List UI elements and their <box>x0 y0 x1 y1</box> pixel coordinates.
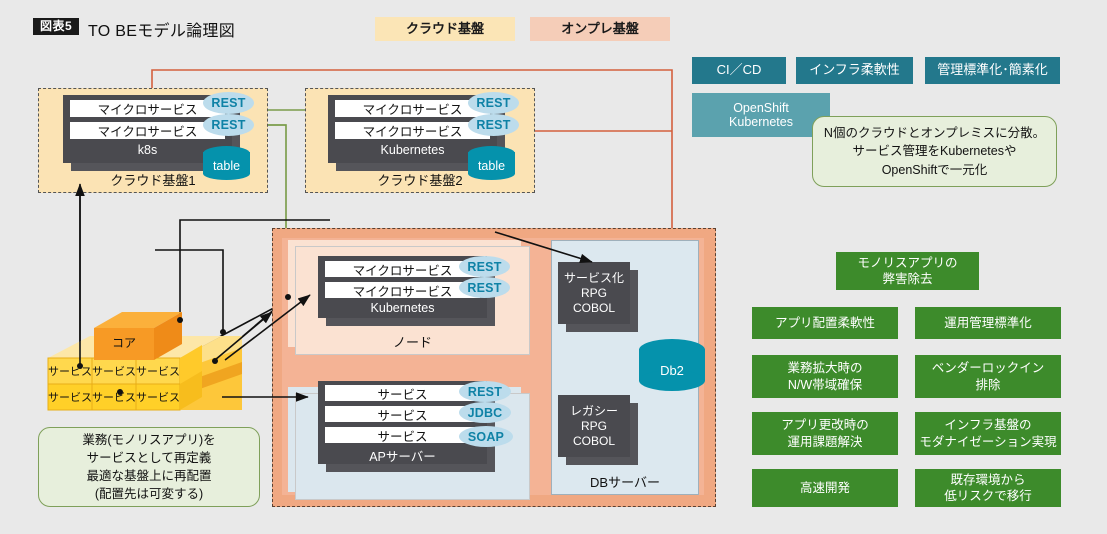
tag-openshift-line1: OpenShift <box>729 101 793 115</box>
ap-service-slot-1: サービス <box>325 385 480 401</box>
legend-onprem-platform: オンプレ基盤 <box>530 17 670 41</box>
benefit-8-line2: 低リスクで移行 <box>944 488 1032 504</box>
cloud2-service-slot-1: マイクロサービス <box>335 100 490 117</box>
callout-redefine-services: 業務(モノリスアプリ)を サービスとして再定義 最適な基盤上に再配置 (配置先は… <box>38 427 260 507</box>
benefit-4-line1: ベンダーロックイン <box>932 360 1045 376</box>
callout-left-line3: 最適な基盤上に再配置 <box>82 467 215 485</box>
callout-left-line4: (配置先は可変する) <box>82 485 215 503</box>
cloud1-table-db: table <box>203 146 250 180</box>
db-server-label: DBサーバー <box>552 472 698 491</box>
cube-service-label-r2c2: サービス <box>92 389 136 405</box>
node-service-slot-1: マイクロサービス <box>325 261 480 277</box>
node-rest-bubble-2: REST <box>459 277 510 298</box>
tag-openshift-kubernetes: OpenShift Kubernetes <box>692 93 830 137</box>
benefit-3-line2: N/W帯域確保 <box>787 377 862 393</box>
cloud2-table-db: table <box>468 146 515 180</box>
ap-jdbc-bubble: JDBC <box>459 402 511 423</box>
benefit-7-line1: 高速開発 <box>800 480 850 496</box>
modern-line1: サービス化 <box>564 271 624 286</box>
benefit-2-line1: 運用管理標準化 <box>944 315 1032 331</box>
benefit-6-line2: モダナイゼーション実現 <box>919 434 1056 450</box>
callout-left-line2: サービスとして再定義 <box>82 449 215 467</box>
monolith-service-cube: コア サービス サービス サービス サービス サービス サービス <box>30 300 245 420</box>
modern-line2: RPG <box>564 286 624 301</box>
db2-cylinder: Db2 <box>639 339 705 391</box>
callout-right-line2: サービス管理をKubernetesや <box>824 142 1045 160</box>
benefit-box-0: モノリスアプリの 弊害除去 <box>836 252 979 290</box>
cube-service-label-r1c3: サービス <box>136 363 180 379</box>
cloud1-rest-bubble-2: REST <box>203 114 254 136</box>
benefit-0-line1: モノリスアプリの <box>857 255 957 271</box>
ap-soap-bubble: SOAP <box>459 426 513 447</box>
benefit-box-3: 業務拡大時の N/W帯域確保 <box>752 355 898 398</box>
cloud2-service-slot-2: マイクロサービス <box>335 122 490 139</box>
db2-label: Db2 <box>639 363 705 378</box>
ap-service-slot-2: サービス <box>325 406 480 422</box>
cloud1-db-label: table <box>203 159 250 173</box>
benefit-1-line1: アプリ配置柔軟性 <box>775 315 875 331</box>
cloud1-service-slot-2: マイクロサービス <box>70 122 225 139</box>
callout-right-line3: OpenShiftで一元化 <box>824 161 1045 179</box>
benefit-8-line1: 既存環境から <box>944 472 1032 488</box>
modern-box-body: サービス化 RPG COBOL <box>558 262 630 324</box>
tag-openshift-line2: Kubernetes <box>729 115 793 129</box>
legacy-rpg-cobol-box: レガシー RPG COBOL <box>558 395 630 457</box>
tag-management-standardization: 管理標準化･簡素化 <box>925 57 1060 84</box>
ap-rest-bubble: REST <box>459 381 511 402</box>
benefit-box-7: 高速開発 <box>752 469 898 507</box>
benefit-3-line1: 業務拡大時の <box>787 360 862 376</box>
benefit-0-line2: 弊害除去 <box>857 271 957 287</box>
legacy-box-body: レガシー RPG COBOL <box>558 395 630 457</box>
cube-service-label-r1c2: サービス <box>92 363 136 379</box>
benefit-6-line1: インフラ基盤の <box>919 417 1056 433</box>
benefit-5-line1: アプリ更改時の <box>781 417 869 433</box>
tag-infra-flexibility: インフラ柔軟性 <box>796 57 913 84</box>
node-rest-bubble-1: REST <box>459 256 510 277</box>
figure-badge: 図表5 <box>33 18 79 35</box>
ap-service-slot-3: サービス <box>325 427 480 443</box>
benefit-box-8: 既存環境から 低リスクで移行 <box>915 469 1061 507</box>
cube-service-label-r2c1: サービス <box>48 389 92 405</box>
benefit-4-line2: 排除 <box>932 377 1045 393</box>
page-title: TO BEモデル論理図 <box>88 17 235 41</box>
modern-rpg-cobol-box: サービス化 RPG COBOL <box>558 262 630 324</box>
cloud1-rest-bubble-1: REST <box>203 92 254 114</box>
cloud2-rest-bubble-2: REST <box>468 114 519 136</box>
node-service-slot-2: マイクロサービス <box>325 282 480 298</box>
legacy-line3: COBOL <box>570 434 618 449</box>
cloud1-service-slot-1: マイクロサービス <box>70 100 225 117</box>
callout-distribution: N個のクラウドとオンプレミスに分散。 サービス管理をKubernetesや Op… <box>812 116 1057 187</box>
node-zone-label: ノード <box>296 332 529 351</box>
modern-line3: COBOL <box>564 301 624 316</box>
benefit-box-2: 運用管理標準化 <box>915 307 1061 339</box>
benefit-5-line2: 運用課題解決 <box>781 434 869 450</box>
legacy-line1: レガシー <box>570 404 618 419</box>
ap-platform-label: APサーバー <box>318 446 487 465</box>
legacy-line2: RPG <box>570 419 618 434</box>
cloud2-rest-bubble-1: REST <box>468 92 519 114</box>
cube-service-label-r2c3: サービス <box>136 389 180 405</box>
node-platform-label: Kubernetes <box>318 301 487 315</box>
benefit-box-5: アプリ更改時の 運用課題解決 <box>752 412 898 455</box>
legend-cloud-platform: クラウド基盤 <box>375 17 515 41</box>
tag-ci-cd: CI／CD <box>692 57 786 84</box>
benefit-box-1: アプリ配置柔軟性 <box>752 307 898 339</box>
callout-left-line1: 業務(モノリスアプリ)を <box>82 431 215 449</box>
cube-core-label: コア <box>94 334 154 351</box>
cloud2-db-label: table <box>468 159 515 173</box>
benefit-box-6: インフラ基盤の モダナイゼーション実現 <box>915 412 1061 455</box>
benefit-box-4: ベンダーロックイン 排除 <box>915 355 1061 398</box>
cube-service-label-r1c1: サービス <box>48 363 92 379</box>
callout-right-line1: N個のクラウドとオンプレミスに分散。 <box>824 124 1045 142</box>
